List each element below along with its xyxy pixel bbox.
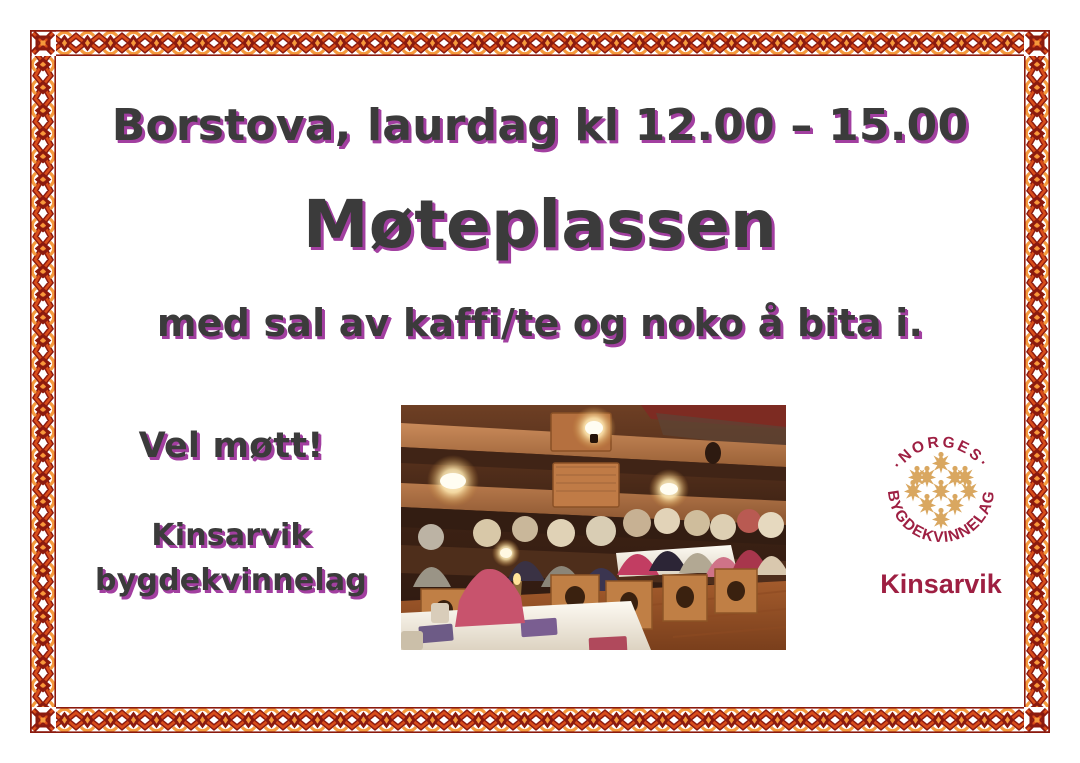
border-corner-top-right bbox=[1024, 30, 1050, 56]
welcome-text: Vel møtt! bbox=[66, 426, 396, 466]
border-band-bottom bbox=[30, 707, 1050, 733]
border-corner-bottom-left bbox=[30, 707, 56, 733]
poster-content: Borstova, laurdag kl 12.00 – 15.00 Møtep… bbox=[56, 56, 1024, 707]
border-band-right bbox=[1024, 30, 1050, 733]
event-when-line: Borstova, laurdag kl 12.00 – 15.00 bbox=[56, 100, 1024, 151]
organizer-line-1: Kinsarvik bbox=[66, 518, 396, 553]
event-subtitle-line: med sal av kaffi/te og noko å bita i. bbox=[56, 301, 1024, 345]
border-corner-top-left bbox=[30, 30, 56, 56]
event-photo bbox=[401, 405, 786, 650]
poster-canvas: Borstova, laurdag kl 12.00 – 15.00 Møtep… bbox=[0, 0, 1080, 763]
poster-title: Møteplassen bbox=[56, 186, 1024, 263]
left-text-block: Vel møtt! Kinsarvik bygdekvinnelag bbox=[66, 426, 396, 598]
border-band-left bbox=[30, 30, 56, 733]
border-corner-bottom-right bbox=[1024, 707, 1050, 733]
event-photo-illustration bbox=[401, 405, 786, 650]
organization-logo: ·NORGES· BYGDEKVINNELAG bbox=[851, 421, 1031, 600]
logo-caption: Kinsarvik bbox=[851, 569, 1031, 600]
organizer-line-2: bygdekvinnelag bbox=[66, 563, 396, 598]
bygdekvinnelag-emblem-icon: ·NORGES· BYGDEKVINNELAG bbox=[871, 421, 1011, 561]
logo-mark: ·NORGES· BYGDEKVINNELAG bbox=[871, 421, 1011, 561]
logo-figure-cluster bbox=[904, 452, 978, 530]
border-band-top bbox=[30, 30, 1050, 56]
